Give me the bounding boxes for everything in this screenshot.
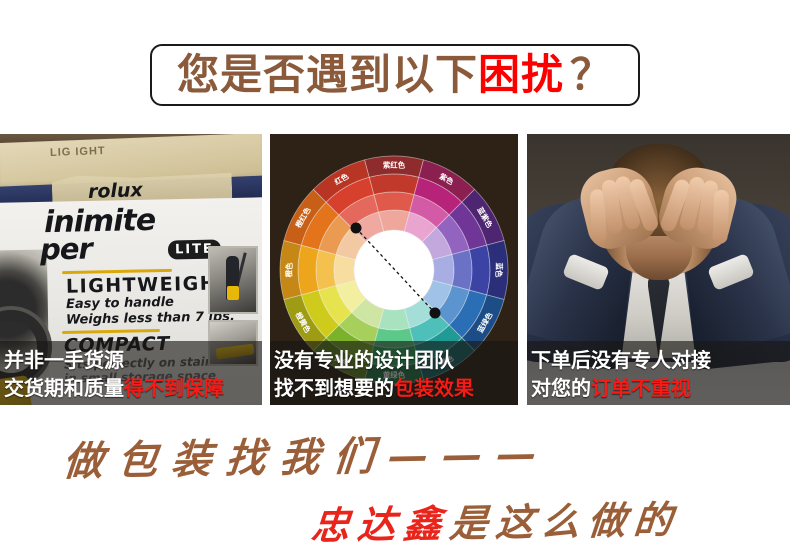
box-brand-line2: per [40,231,92,266]
caption-line-2: 交货期和质量得不到保障 [4,374,260,402]
svg-text:橙色: 橙色 [285,262,294,277]
box-thumbnail-person [208,246,258,314]
box-faded-text: LIG IGHT [50,145,106,159]
title-brown-text: 您是否遇到以下 [177,50,478,99]
box-heading-lightweight: LIGHTWEIGHT [66,272,232,297]
title-question-mark: ？ [564,50,613,99]
panel-sourcing: LIG IGHT rolux inimite per LITE LIGHTWEI… [0,134,262,405]
caption-red-text: 订单不重视 [591,376,691,400]
page-title: 您是否遇到以下困扰？ [177,54,613,96]
svg-text:蓝色: 蓝色 [494,262,503,277]
panel-design-caption: 没有专业的设计团队 找不到想要的包装效果 [270,341,518,405]
footer-tagline-rest: 是这么做的 [448,497,682,546]
footer-tagline-1: 做包装找我们——— [61,421,553,487]
box-sub-easy: Easy to handle [66,295,174,312]
caption-red-text: 得不到保障 [124,376,224,400]
caption-plain-text: 对您的 [531,376,591,400]
caption-plain-text: 找不到想要的 [274,376,394,400]
caption-line-1: 下单后没有专人对接 [531,346,788,374]
panel-service: 下单后没有专人对接 对您的订单不重视 [527,134,790,405]
panel-row: LIG IGHT rolux inimite per LITE LIGHTWEI… [0,134,790,405]
title-box: 您是否遇到以下困扰？ [150,44,640,106]
panel-service-caption: 下单后没有专人对接 对您的订单不重视 [527,341,790,405]
title-red-text: 困扰 [478,50,564,99]
caption-line-2: 找不到想要的包装效果 [274,374,516,402]
caption-line-1: 没有专业的设计团队 [274,346,516,374]
panel-design: 紫红色紫色蓝紫色蓝色蓝绿色绿色黄绿色黄色橙黄色橙色橙红色红色 没有专业的设计团队… [270,134,518,405]
caption-line-2: 对您的订单不重视 [531,374,788,402]
svg-text:紫红色: 紫红色 [383,160,406,169]
footer-tagline-2: 忠达鑫是这么做的 [309,489,682,550]
footer-brand-name: 忠达鑫 [309,501,451,548]
caption-plain-text: 交货期和质量 [4,376,124,400]
promo-banner: 您是否遇到以下困扰？ LIG IGHT rolux inimite per LI… [0,0,790,559]
panel-sourcing-caption: 并非一手货源 交货期和质量得不到保障 [0,341,262,405]
caption-line-1: 并非一手货源 [4,346,260,374]
caption-red-text: 包装效果 [394,376,474,400]
